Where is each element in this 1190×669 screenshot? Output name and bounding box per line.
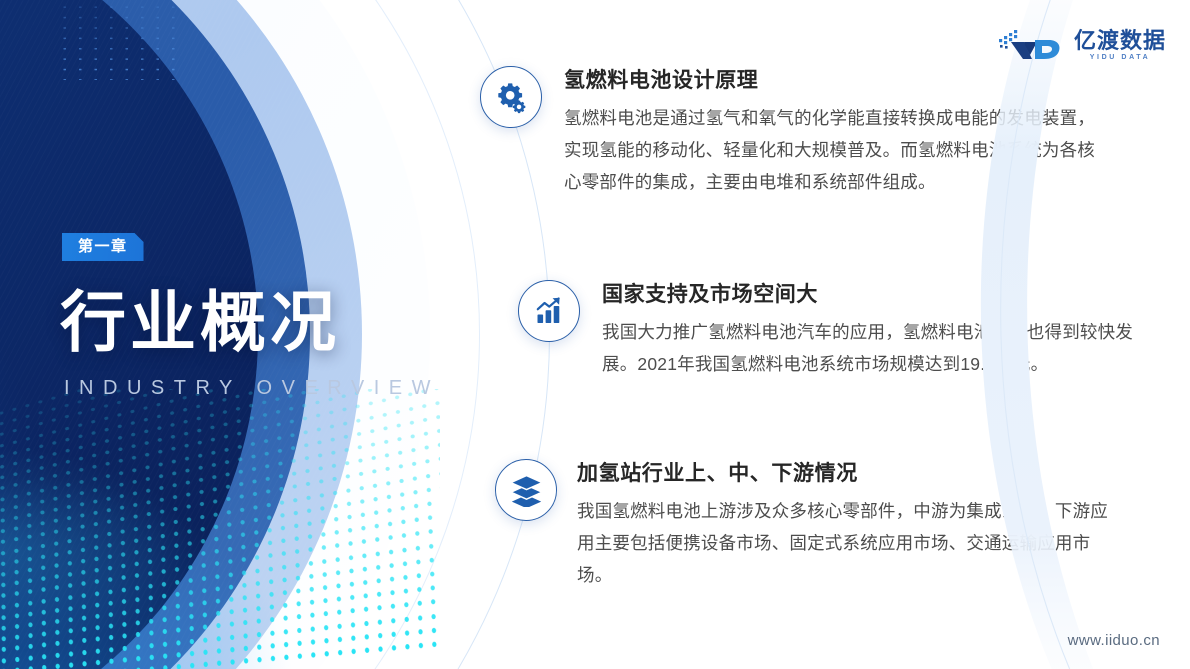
section-body-2: 我国大力推广氢燃料电池汽车的应用，氢燃料电池系统也得到较快发展。2021年我国氢…	[602, 317, 1154, 381]
content-column: 氢燃料电池设计原理 氢燃料电池是通过氢气和氧气的化学能直接转换成电能的发电装置，…	[470, 0, 1190, 669]
logo-chinese-name: 亿渡数据	[1074, 29, 1166, 52]
footer-website-url[interactable]: www.iiduo.cn	[1068, 632, 1160, 649]
page-title: 行业概况	[60, 288, 340, 358]
section-text-3: 加氢站行业上、中、下游情况 我国氢燃料电池上游涉及众多核心零部件，中游为集成系统…	[577, 459, 1122, 592]
page-subtitle: INDUSTRY OVERVIEW	[64, 378, 440, 398]
section-text-1: 氢燃料电池设计原理 氢燃料电池是通过氢气和氧气的化学能直接转换成电能的发电装置，…	[564, 66, 1109, 199]
section-heading-2: 国家支持及市场空间大	[602, 282, 1154, 308]
bar-chart-growth-icon	[518, 280, 580, 342]
section-text-2: 国家支持及市场空间大 我国大力推广氢燃料电池汽车的应用，氢燃料电池系统也得到较快…	[602, 280, 1154, 381]
section-heading-3: 加氢站行业上、中、下游情况	[577, 461, 1122, 487]
logo-text-group: 亿渡数据 YIDU DATA	[1074, 29, 1166, 61]
logo-english-name: YIDU DATA	[1090, 54, 1150, 61]
presentation-slide: 第一章 行业概况 INDUSTRY OVERVIEW	[0, 0, 1190, 669]
layers-icon	[495, 459, 557, 521]
chapter-badge: 第一章	[62, 233, 144, 261]
section-item-3: 加氢站行业上、中、下游情况 我国氢燃料电池上游涉及众多核心零部件，中游为集成系统…	[495, 459, 1185, 592]
gear-icon	[480, 66, 542, 128]
section-body-3: 我国氢燃料电池上游涉及众多核心零部件，中游为集成系统，下游应用主要包括便携设备市…	[577, 496, 1122, 592]
section-item-2: 国家支持及市场空间大 我国大力推广氢燃料电池汽车的应用，氢燃料电池系统也得到较快…	[518, 280, 1183, 381]
section-body-1: 氢燃料电池是通过氢气和氧气的化学能直接转换成电能的发电装置，实现氢能的移动化、轻…	[564, 103, 1109, 199]
yidu-logo-mark-icon	[997, 28, 1067, 62]
brand-logo[interactable]: 亿渡数据 YIDU DATA	[997, 28, 1166, 62]
section-heading-1: 氢燃料电池设计原理	[564, 68, 1109, 94]
section-item-1: 氢燃料电池设计原理 氢燃料电池是通过氢气和氧气的化学能直接转换成电能的发电装置，…	[480, 66, 1180, 199]
